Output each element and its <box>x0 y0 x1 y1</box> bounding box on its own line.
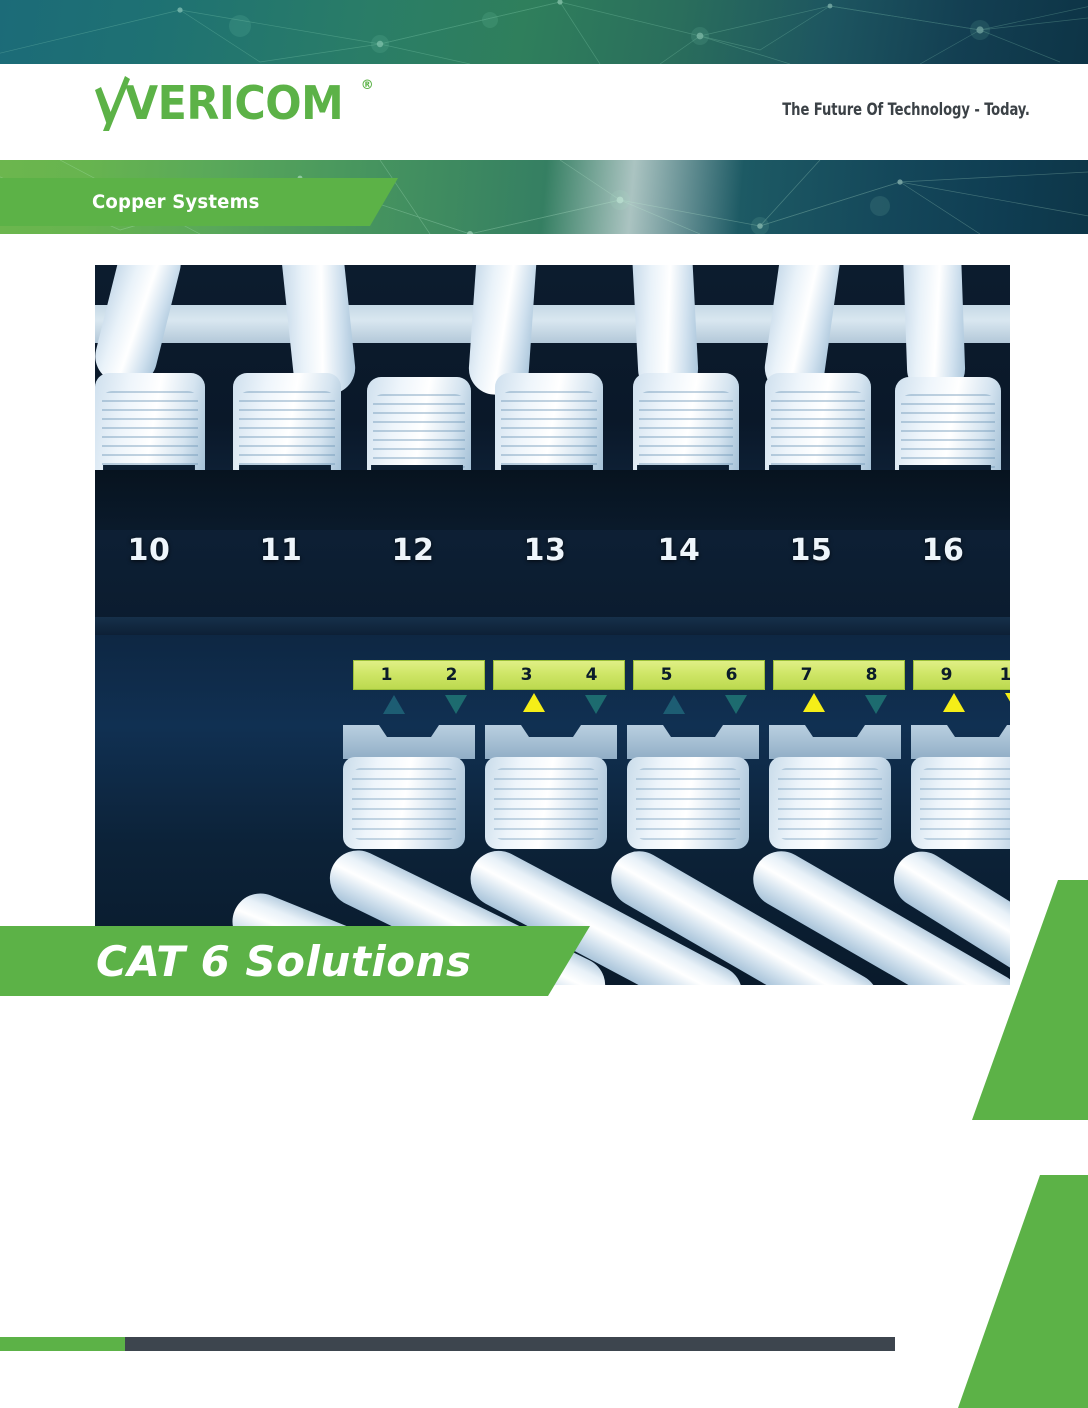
port-label: 7 <box>774 665 839 685</box>
led-indicator <box>1005 693 1010 712</box>
port-label: 10 <box>979 665 1010 685</box>
logo-row: VERICOM ® The Future Of Technology - Tod… <box>0 64 1088 160</box>
category-banner-label: Copper Systems <box>92 191 260 213</box>
port-label: 6 <box>699 665 764 685</box>
footer-rule-green-segment <box>0 1337 125 1351</box>
brand-tagline: The Future Of Technology - Today. <box>782 100 1030 120</box>
cable-boot <box>911 757 1010 849</box>
port-label: 4 <box>559 665 624 685</box>
led-indicator <box>523 693 545 712</box>
led-indicator <box>585 695 607 714</box>
header-band-top <box>0 0 1088 64</box>
port-number: 11 <box>235 533 327 568</box>
led-indicator <box>803 693 825 712</box>
port-label: 8 <box>839 665 904 685</box>
panel-rail <box>95 305 1010 343</box>
port-label-strip: 1 2 <box>353 660 485 690</box>
hero-patch-panel-image: 10 11 12 13 14 15 16 1 2 3 4 5 6 7 8 9 1… <box>95 265 1010 985</box>
led-indicator <box>865 695 887 714</box>
cable-boot <box>485 757 607 849</box>
port-label-strip: 7 8 <box>773 660 905 690</box>
decorative-parallelogram-green-bottom <box>958 1175 1088 1408</box>
port-number: 12 <box>367 533 459 568</box>
port-label: 1 <box>354 665 419 685</box>
port-label: 2 <box>419 665 484 685</box>
port-number: 16 <box>897 533 989 568</box>
port-number: 14 <box>633 533 725 568</box>
network-mesh-icon <box>0 0 1088 64</box>
port-label-strip: 3 4 <box>493 660 625 690</box>
footer-rule-dark-segment <box>125 1337 895 1351</box>
cable-boot <box>627 757 749 849</box>
led-indicator <box>725 695 747 714</box>
logo-wordmark: VERICOM <box>125 76 343 130</box>
port-number: 13 <box>499 533 591 568</box>
port-label: 5 <box>634 665 699 685</box>
registered-trademark-symbol: ® <box>361 76 374 96</box>
panel-separator <box>95 617 1010 635</box>
port-label: 9 <box>914 665 979 685</box>
panel-bay <box>95 470 1010 530</box>
led-indicator <box>383 695 405 714</box>
led-indicator <box>663 695 685 714</box>
page-title: CAT 6 Solutions <box>96 937 472 986</box>
vericom-logo: VERICOM ® <box>95 76 374 132</box>
led-indicator <box>445 695 467 714</box>
port-number: 15 <box>765 533 857 568</box>
led-indicator <box>943 693 965 712</box>
port-number: 10 <box>103 533 195 568</box>
category-banner: Copper Systems <box>0 178 398 226</box>
port-label-strip: 5 6 <box>633 660 765 690</box>
cable-boot <box>769 757 891 849</box>
port-label: 3 <box>494 665 559 685</box>
cable-boot <box>343 757 465 849</box>
page-title-banner: CAT 6 Solutions <box>0 926 590 996</box>
port-label-strip: 9 10 <box>913 660 1010 690</box>
